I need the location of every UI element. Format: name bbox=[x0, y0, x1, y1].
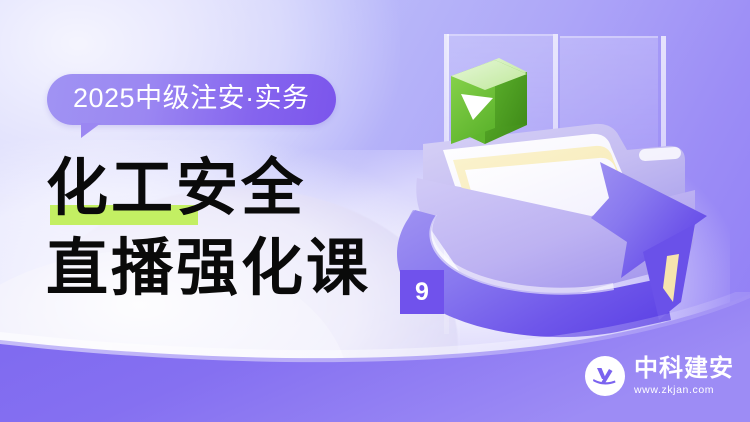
course-category-badge: 2025中级注安·实务 bbox=[47, 74, 336, 125]
headline-row-2: 直播强化课 bbox=[46, 232, 371, 304]
page-title: 化工安全 直播强化课 bbox=[46, 152, 371, 304]
brand-text: 中科建安 www.zkjan.com bbox=[634, 357, 734, 396]
course-banner: 2025中级注安·实务 化工安全 直播强化课 9 中科建安 www.zkjan.… bbox=[0, 0, 750, 422]
headline-line-2: 直播强化课 bbox=[46, 232, 371, 304]
brand-url: www.zkjan.com bbox=[634, 385, 734, 396]
headline-row-1: 化工安全 bbox=[46, 152, 371, 224]
brand-name: 中科建安 bbox=[634, 357, 734, 381]
green-play-cube-icon bbox=[451, 58, 527, 144]
episode-number-badge: 9 bbox=[400, 270, 444, 314]
brand-logo: 中科建安 www.zkjan.com bbox=[585, 356, 734, 396]
course-category-pill: 2025中级注安·实务 bbox=[47, 74, 336, 125]
speech-bubble-tail bbox=[81, 123, 101, 138]
headline-line-1: 化工安全 bbox=[46, 152, 306, 224]
course-category-label: 2025中级注安·实务 bbox=[73, 83, 310, 114]
zk-circle-logo-icon bbox=[585, 356, 625, 396]
